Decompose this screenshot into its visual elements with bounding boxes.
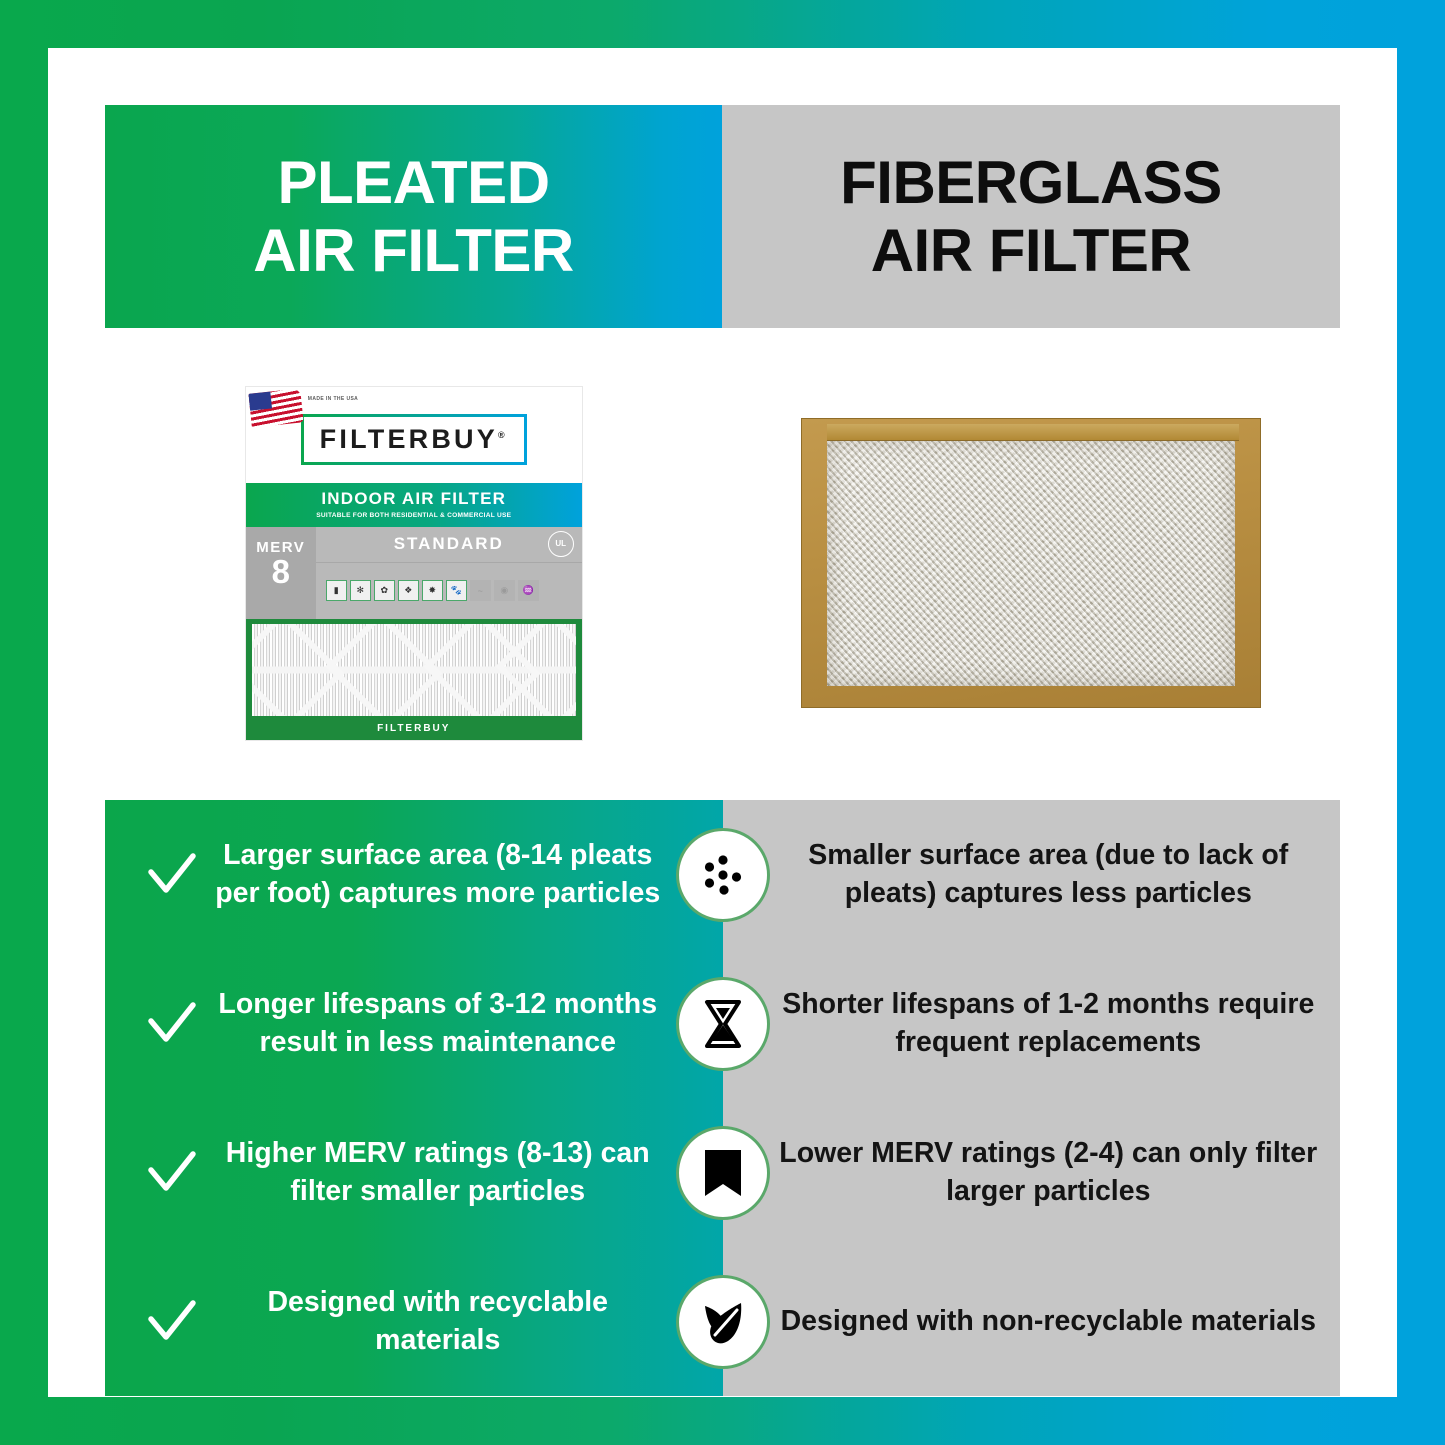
pet-hair-icon: 🐾 (446, 580, 467, 601)
smoke-icon: ~ (470, 580, 491, 601)
comparison-row-pleated: Longer lifespans of 3-12 months result i… (105, 949, 723, 1098)
comparison-row: Higher MERV ratings (8-13) can filter sm… (105, 1098, 1340, 1247)
package-band-subtitle: SUITABLE FOR BOTH RESIDENTIAL & COMMERCI… (246, 512, 582, 519)
checkmark-icon (135, 848, 209, 902)
comparison-row-fiberglass: Shorter lifespans of 1-2 months require … (723, 949, 1341, 1098)
comparison-row: Longer lifespans of 3-12 months result i… (105, 949, 1340, 1098)
package-gradient-band: INDOOR AIR FILTER SUITABLE FOR BOTH RESI… (246, 483, 582, 527)
page-title-pleated: PLEATED AIR FILTER (253, 149, 574, 283)
grade-row: STANDARD UL (316, 527, 582, 563)
comparison-row: Larger surface area (8-14 pleats per foo… (105, 800, 1340, 949)
comparison-text-fiberglass: Shorter lifespans of 1-2 months require … (779, 986, 1319, 1062)
package-spec-band: MERV 8 STANDARD UL ▮ ✻ ✿ (246, 527, 582, 619)
made-in-usa-label: MADE IN THE USA (308, 396, 358, 403)
comparison-row-fiberglass: Designed with non-recyclable materials (723, 1247, 1341, 1396)
product-image-band: MADE IN THE USA FILTERBUY® INDOOR AIR FI… (105, 328, 1340, 798)
package-band-title: INDOOR AIR FILTER (246, 489, 582, 509)
dust-icon: ▮ (326, 580, 347, 601)
pleated-product-cell: MADE IN THE USA FILTERBUY® INDOOR AIR FI… (105, 328, 723, 798)
odor-icon: ♒ (518, 580, 539, 601)
pleated-media-window: FILTERBUY (246, 619, 582, 741)
mold-icon: ❖ (398, 580, 419, 601)
package-footer-brand: FILTERBUY (246, 716, 582, 741)
header-fiberglass: FIBERGLASS AIR FILTER (722, 105, 1340, 328)
grade-label: STANDARD (394, 534, 504, 554)
infographic-frame: PLEATED AIR FILTER FIBERGLASS AIR FILTER… (0, 0, 1445, 1445)
hourglass-icon (676, 977, 770, 1071)
merv-badge: MERV 8 (246, 527, 316, 619)
virus-icon: ◉ (494, 580, 515, 601)
comparison-row-pleated: Higher MERV ratings (8-13) can filter sm… (105, 1098, 723, 1247)
particles-icon (676, 828, 770, 922)
fiberglass-filter-image (801, 418, 1261, 708)
pollen-icon: ✻ (350, 580, 371, 601)
checkmark-icon (135, 1146, 209, 1200)
comparison-table: Larger surface area (8-14 pleats per foo… (105, 800, 1340, 1396)
page-title-fiberglass: FIBERGLASS AIR FILTER (840, 149, 1222, 283)
checkmark-icon (135, 1295, 209, 1349)
comparison-row: Designed with recyclable materials Desig… (105, 1247, 1340, 1396)
comparison-text-pleated: Longer lifespans of 3-12 months result i… (209, 986, 667, 1062)
feature-icon-row: ▮ ✻ ✿ ❖ ✸ 🐾 ~ ◉ ♒ (316, 563, 582, 619)
leaf-icon (676, 1275, 770, 1369)
pleated-filter-package-image: MADE IN THE USA FILTERBUY® INDOOR AIR FI… (245, 386, 583, 741)
comparison-row-pleated: Designed with recyclable materials (105, 1247, 723, 1396)
brand-logo-box: FILTERBUY® (301, 414, 527, 465)
brand-name: FILTERBUY® (320, 424, 508, 455)
comparison-text-pleated: Higher MERV ratings (8-13) can filter sm… (209, 1135, 667, 1211)
comparison-row-fiberglass: Lower MERV ratings (2-4) can only filter… (723, 1098, 1341, 1247)
ul-certification-icon: UL (548, 531, 574, 557)
usa-flag-icon (248, 388, 303, 427)
fiberglass-product-cell (723, 328, 1341, 798)
checkmark-icon (135, 997, 209, 1051)
header-pleated: PLEATED AIR FILTER (105, 105, 722, 328)
comparison-text-fiberglass: Designed with non-recyclable materials (779, 1303, 1319, 1341)
comparison-text-pleated: Larger surface area (8-14 pleats per foo… (209, 837, 667, 913)
support-wire-diamond (325, 624, 442, 716)
comparison-row-pleated: Larger surface area (8-14 pleats per foo… (105, 800, 723, 949)
white-canvas: PLEATED AIR FILTER FIBERGLASS AIR FILTER… (48, 48, 1397, 1397)
pleated-media (252, 624, 576, 716)
package-header: MADE IN THE USA FILTERBUY® (246, 387, 582, 483)
comparison-row-fiberglass: Smaller surface area (due to lack of ple… (723, 800, 1341, 949)
package-spec-right: STANDARD UL ▮ ✻ ✿ ❖ ✸ 🐾 ~ (316, 527, 582, 619)
bookmark-icon (676, 1126, 770, 1220)
dander-icon: ✸ (422, 580, 443, 601)
fiberglass-media (827, 440, 1235, 686)
header-band: PLEATED AIR FILTER FIBERGLASS AIR FILTER (105, 105, 1340, 328)
comparison-text-pleated: Designed with recyclable materials (209, 1284, 667, 1360)
bacteria-icon: ✿ (374, 580, 395, 601)
comparison-text-fiberglass: Smaller surface area (due to lack of ple… (779, 837, 1319, 913)
merv-value: 8 (246, 556, 316, 587)
comparison-text-fiberglass: Lower MERV ratings (2-4) can only filter… (779, 1135, 1319, 1211)
